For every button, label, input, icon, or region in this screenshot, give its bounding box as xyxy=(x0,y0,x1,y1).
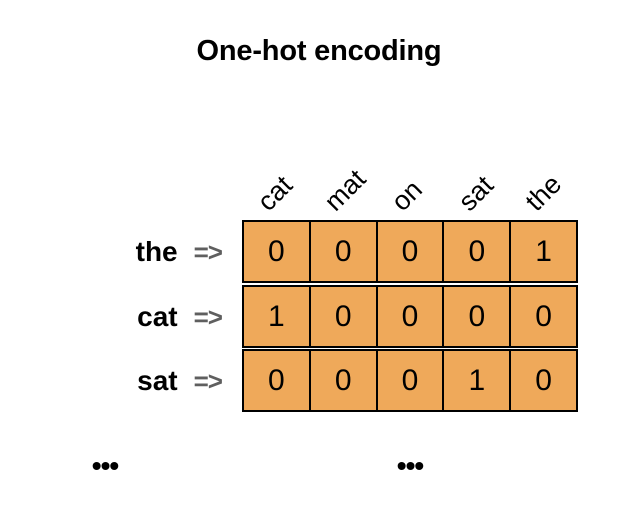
matrix-row-0: 0 0 0 0 1 xyxy=(242,220,578,283)
ellipsis-row-labels: ••• xyxy=(92,452,118,480)
one-hot-encoding-figure: One-hot encoding cat mat on sat the the … xyxy=(0,0,638,522)
column-header-label: cat xyxy=(253,171,298,216)
matrix-cell: 0 xyxy=(378,351,445,410)
matrix-row-2: 0 0 0 1 0 xyxy=(242,349,578,412)
matrix-cell: 0 xyxy=(244,222,311,281)
column-header-label: sat xyxy=(454,171,499,216)
ellipsis-matrix: ••• xyxy=(397,452,423,480)
row-label-group-0: the => xyxy=(0,220,232,283)
column-header-label: on xyxy=(387,176,427,216)
row-word-label: cat xyxy=(137,303,177,331)
column-header-label: the xyxy=(521,170,567,216)
row-word-label: sat xyxy=(137,367,177,395)
figure-title: One-hot encoding xyxy=(0,35,638,68)
matrix-cell: 0 xyxy=(311,351,378,410)
matrix-cell: 0 xyxy=(378,222,445,281)
matrix-cell: 1 xyxy=(444,351,511,410)
matrix-cell: 0 xyxy=(444,222,511,281)
matrix-cell: 0 xyxy=(378,287,445,346)
matrix-cell: 0 xyxy=(244,351,311,410)
matrix-cell: 0 xyxy=(311,287,378,346)
matrix-row-1: 1 0 0 0 0 xyxy=(242,285,578,348)
matrix-cell: 0 xyxy=(511,287,576,346)
matrix-cell: 1 xyxy=(244,287,311,346)
matrix-cell: 0 xyxy=(311,222,378,281)
maps-to-arrow-icon: => xyxy=(194,368,222,394)
column-header-label: mat xyxy=(320,165,371,216)
row-word-label: the xyxy=(136,238,178,266)
matrix-cell: 1 xyxy=(511,222,576,281)
row-label-group-1: cat => xyxy=(0,285,232,348)
maps-to-arrow-icon: => xyxy=(194,239,222,265)
matrix-cell: 0 xyxy=(444,287,511,346)
matrix-cell: 0 xyxy=(511,351,576,410)
maps-to-arrow-icon: => xyxy=(194,304,222,330)
row-label-group-2: sat => xyxy=(0,349,232,412)
